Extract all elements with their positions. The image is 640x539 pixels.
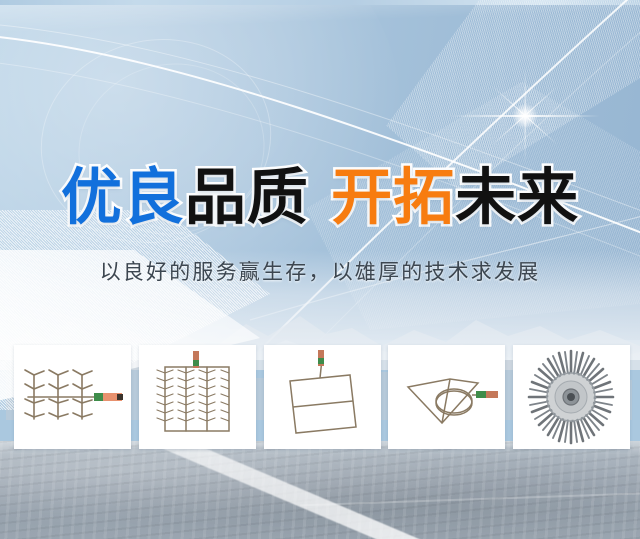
- headline-segment-1: 优良: [61, 162, 185, 233]
- product-card-radial-fan-heater[interactable]: [513, 345, 630, 449]
- product-card-row: [14, 345, 630, 449]
- page-title: 优良品质 开拓未来: [0, 163, 640, 233]
- finned-rack-heater-icon: [139, 345, 256, 449]
- product-card-coil-plate-heater[interactable]: [388, 345, 505, 449]
- flat-panel-heater-icon: [264, 345, 381, 449]
- ground-texture: [0, 441, 640, 539]
- light-burst-icon: [525, 116, 527, 118]
- headline-segment-gap: [309, 162, 331, 233]
- headline-segment-2: 品质: [185, 162, 309, 233]
- branched-tube-heater-icon: [14, 345, 131, 449]
- subtitle: 以良好的服务赢生存，以雄厚的技术求发展: [0, 258, 640, 286]
- product-card-finned-rack-heater[interactable]: [139, 345, 256, 449]
- product-card-flat-panel-heater[interactable]: [264, 345, 381, 449]
- headline-segment-4: 未来: [455, 162, 579, 233]
- radial-fan-heater-icon: [513, 345, 630, 449]
- product-card-branched-tube-heater[interactable]: [14, 345, 131, 449]
- promo-banner: 优良品质 开拓未来 以良好的服务赢生存，以雄厚的技术求发展: [0, 0, 640, 539]
- coil-plate-heater-icon: [388, 345, 505, 449]
- headline-segment-3: 开拓: [331, 162, 455, 233]
- ground-plane: [0, 441, 640, 539]
